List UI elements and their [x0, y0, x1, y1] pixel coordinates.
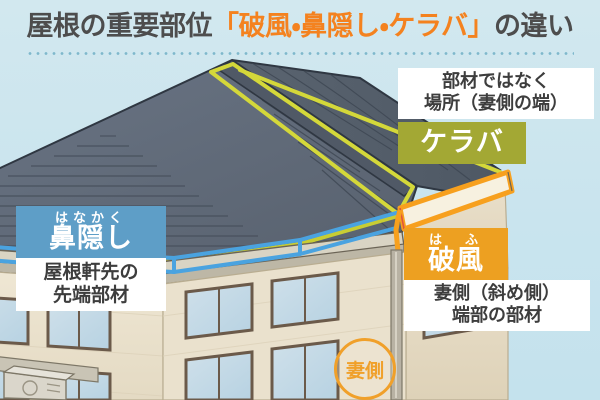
keraba-label-group: 部材ではなく 場所（妻側の端） ケラバ — [398, 68, 594, 164]
keraba-term-chip: ケラバ — [398, 122, 526, 164]
title-part-accent: 「破風・鼻隠し・ケラバ」 — [212, 11, 494, 41]
title-part-1: 屋根の重要部位 — [26, 11, 212, 41]
hafu-term: 破風 — [404, 247, 508, 280]
tsumagawa-badge: 妻側 — [334, 338, 396, 400]
hanakakushi-label-group: はなかく 鼻隠し 屋根軒先の 先端部材 — [16, 206, 166, 311]
page-title: 屋根の重要部位「破風・鼻隠し・ケラバ」の違い — [0, 0, 600, 52]
keraba-note-line1: 部材ではなく — [404, 71, 588, 93]
hanakakushi-note-line2: 先端部材 — [22, 284, 160, 307]
title-divider — [26, 52, 574, 55]
tsumagawa-label: 妻側 — [346, 356, 384, 383]
keraba-note-line2: 場所（妻側の端） — [404, 93, 588, 115]
hanakakushi-term-chip: はなかく 鼻隠し — [16, 206, 166, 258]
hafu-note-line2: 端部の部材 — [410, 305, 584, 327]
hanakakushi-term: 鼻隠し — [16, 225, 166, 258]
infographic-canvas: 屋根の重要部位「破風・鼻隠し・ケラバ」の違い 部材ではなく 場所（妻側の端） ケ… — [0, 0, 600, 400]
hafu-term-chip: は ふ 破風 — [404, 228, 508, 280]
hafu-note: 妻側（斜め側） 端部の部材 — [404, 280, 590, 331]
title-part-3: の違い — [494, 11, 574, 41]
hanakakushi-note-line1: 屋根軒先の — [22, 261, 160, 284]
hanakakushi-note: 屋根軒先の 先端部材 — [16, 258, 166, 311]
house-roof-illustration — [0, 0, 600, 400]
hafu-label-group: は ふ 破風 妻側（斜め側） 端部の部材 — [404, 228, 590, 331]
hafu-note-line1: 妻側（斜め側） — [410, 283, 584, 305]
keraba-note: 部材ではなく 場所（妻側の端） — [398, 68, 594, 119]
keraba-term: ケラバ — [398, 122, 526, 164]
